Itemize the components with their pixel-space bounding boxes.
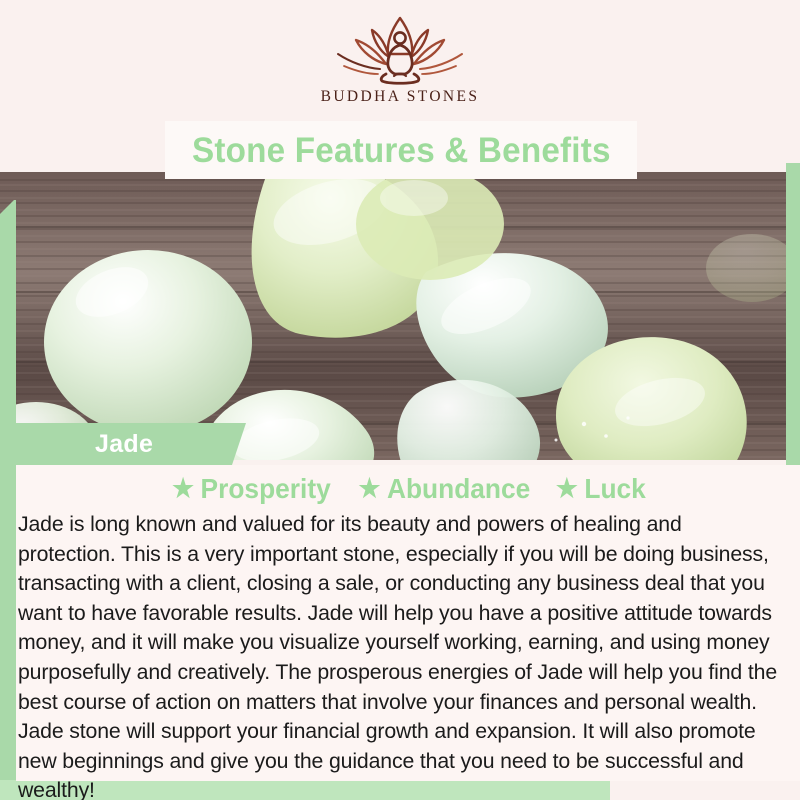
keyword-item-abundance: ★ Abundance — [359, 475, 531, 503]
title-banner: Stone Features & Benefits — [165, 121, 637, 179]
infographic-page: BUDDHA STONES — [0, 0, 800, 800]
keyword-item-prosperity: ★ Prosperity — [172, 475, 331, 503]
keyword-item-luck: ★ Luck — [556, 475, 646, 503]
keyword-label: Prosperity — [201, 475, 331, 503]
stone-description: Jade is long known and valued for its be… — [16, 505, 788, 800]
accent-bar-right — [786, 163, 800, 483]
keyword-label: Luck — [584, 475, 645, 503]
content-panel: ★ Prosperity ★ Abundance ★ Luck Jade is … — [16, 465, 800, 781]
star-icon: ★ — [172, 475, 194, 501]
stone-name-banner: Jade — [0, 423, 246, 465]
star-icon: ★ — [359, 475, 381, 501]
stone-name: Jade — [95, 432, 153, 457]
keyword-label: Abundance — [387, 475, 530, 503]
accent-bar-left — [0, 200, 16, 780]
lotus-meditation-icon — [324, 14, 476, 86]
brand-header: BUDDHA STONES — [0, 14, 800, 114]
brand-name: BUDDHA STONES — [321, 88, 480, 106]
keyword-list: ★ Prosperity ★ Abundance ★ Luck — [16, 465, 800, 505]
star-icon: ★ — [556, 475, 578, 501]
page-title: Stone Features & Benefits — [192, 133, 611, 168]
stone-photo — [0, 172, 786, 460]
